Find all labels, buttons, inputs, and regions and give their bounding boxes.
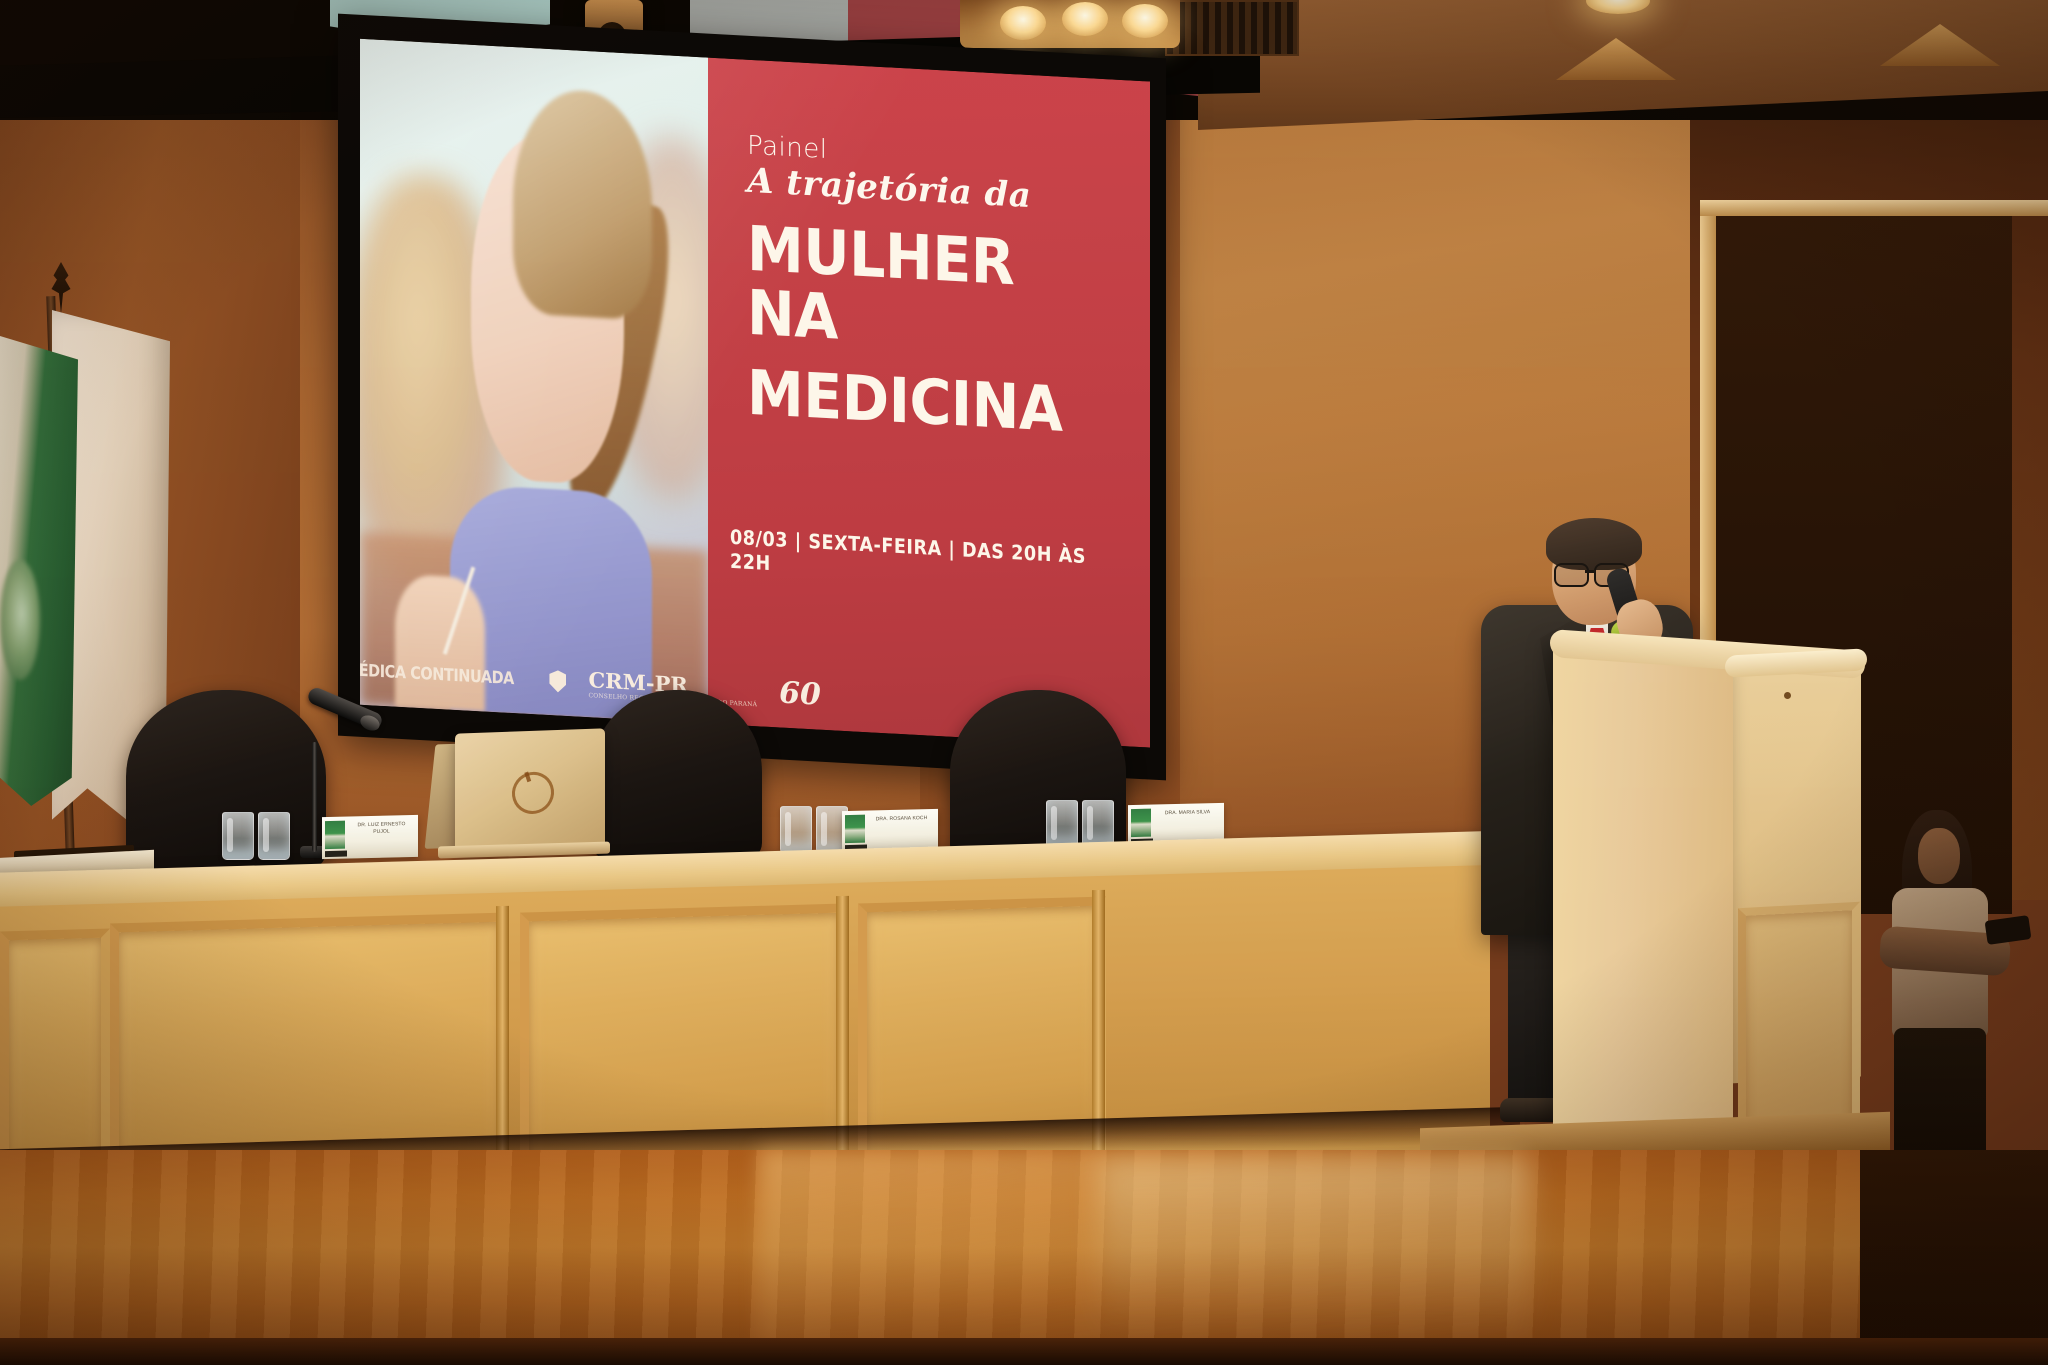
- slide-headline-line2: MEDICINA: [747, 361, 1074, 443]
- slide-dateline: 08/03 | SEXTA-FEIRA | DAS 20H ÀS 22H: [730, 525, 1100, 593]
- slide-logo-education-label: ÉDICA CONTINUADA: [360, 661, 514, 689]
- slide-text-half: PainelA trajetória da MULHER NA MEDICINA…: [708, 58, 1150, 748]
- slide-script-line: A trajetória da: [747, 161, 1031, 216]
- presentation-slide: PainelA trajetória da MULHER NA MEDICINA…: [360, 39, 1150, 748]
- lectern-front: [1553, 637, 1733, 1159]
- water-glass-3: [780, 806, 812, 854]
- projection-screen-surface: PainelA trajetória da MULHER NA MEDICINA…: [360, 39, 1150, 748]
- slide-photo-hair: [513, 87, 652, 321]
- nameplate-3-text: DRA. MARIA SILVA: [1156, 809, 1219, 818]
- laptop-dell[interactable]: [455, 728, 605, 855]
- nameplate-2-text: DRA. ROSANA KOCH: [870, 815, 933, 824]
- lectern-base-panel: [1738, 902, 1860, 1142]
- slide-photo-half: [360, 39, 708, 724]
- eyeglasses-lens-left: [1554, 563, 1589, 587]
- attendee-phone: [1985, 915, 2032, 945]
- nameplate-footer-bar: [325, 851, 347, 858]
- floor-front-edge: [0, 1338, 2048, 1365]
- eyeglasses-bridge: [1585, 570, 1594, 573]
- floor-dark-right-corner: [1860, 1150, 2048, 1365]
- nameplate-logo-icon: [845, 815, 865, 843]
- auditorium-scene: PainelA trajetória da MULHER NA MEDICINA…: [0, 0, 2048, 1365]
- ceiling-vent-grille: [1165, 0, 1299, 56]
- slide-logo-anniversary: 60: [779, 676, 821, 713]
- slide-kicker: Painel: [747, 131, 827, 165]
- projection-screen: PainelA trajetória da MULHER NA MEDICINA…: [338, 14, 1166, 781]
- water-glass-5: [1046, 800, 1078, 848]
- nameplate-logo-icon: [1131, 809, 1151, 837]
- stage-floor: [0, 1150, 2048, 1365]
- water-glass-1: [222, 812, 254, 860]
- chair-2: [592, 690, 762, 860]
- nameplate-1: DR. LUIZ ERNESTO PUJOL: [322, 815, 418, 859]
- spotlight-lamp-1: [1000, 6, 1046, 40]
- lectern-latch-icon: [1784, 692, 1791, 699]
- doorway-frame-top: [1700, 200, 2048, 216]
- attendee-face: [1918, 828, 1960, 884]
- flag-emblem-icon: [0, 560, 40, 680]
- dell-logo-icon: [507, 766, 560, 820]
- water-glass-2: [258, 812, 290, 860]
- shield-icon: [549, 670, 566, 693]
- slide-headline-line1: MULHER NA: [747, 217, 1074, 362]
- microphone-gooseneck: [312, 742, 317, 852]
- spotlight-lamp-2: [1062, 2, 1108, 36]
- spotlight-lamp-3: [1122, 4, 1168, 38]
- nameplate-1-text: DR. LUIZ ERNESTO PUJOL: [350, 821, 413, 837]
- nameplate-logo-icon: [325, 821, 345, 849]
- floor-reflection-highlight: [1100, 1160, 1530, 1340]
